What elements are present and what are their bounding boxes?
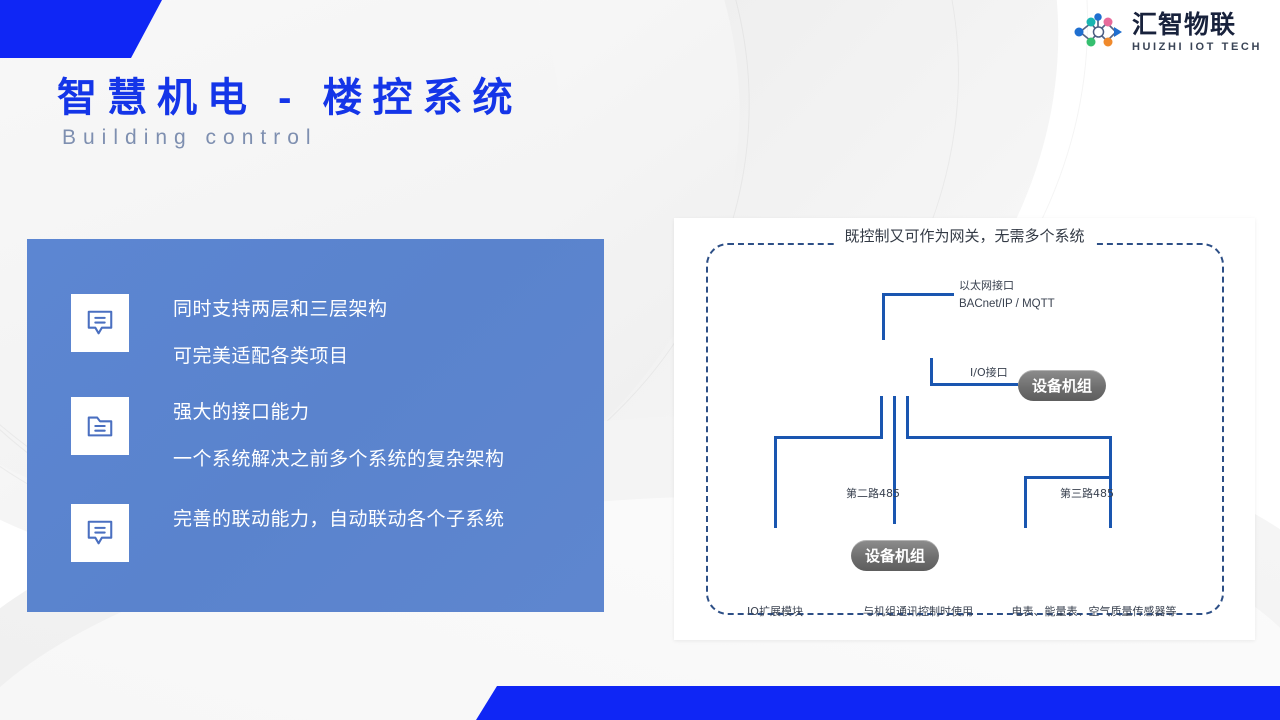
feature-line: 同时支持两层和三层架构 — [173, 294, 388, 321]
caption-io-module: IO扩展模块 — [710, 603, 840, 619]
wire-bus3-trunk — [906, 396, 909, 438]
folder-document-icon — [71, 397, 129, 455]
wire-bus3-branch-sensor — [1109, 476, 1112, 528]
brand-logo: 汇智物联 HUIZHI IOT TECH — [1072, 10, 1262, 54]
feature-row: 完善的联动能力，自动联动各个子系统 — [71, 504, 505, 562]
label-ethernet-port: 以太网接口 — [959, 279, 1014, 294]
feature-line: 完善的联动能力，自动联动各个子系统 — [173, 504, 505, 531]
diagram-title: 既控制又可作为网关，无需多个系统 — [834, 225, 1094, 246]
page-title: 智慧机电 - 楼控系统 — [57, 65, 523, 123]
comment-bubble-icon — [71, 294, 129, 352]
feature-line: 强大的接口能力 — [173, 397, 505, 424]
page-subtitle: Building control — [62, 126, 318, 150]
feature-line: 一个系统解决之前多个系统的复杂架构 — [173, 444, 505, 471]
feature-text-block: 完善的联动能力，自动联动各个子系统 — [173, 504, 505, 531]
label-io-port: I/O接口 — [970, 366, 1008, 381]
wire-bus1-horizontal — [774, 436, 883, 439]
wire-bus3-drop — [1109, 436, 1112, 478]
wire-bus1-trunk — [880, 396, 883, 438]
wire-ethernet-vertical — [882, 293, 885, 340]
wire-io-vertical — [930, 358, 933, 386]
label-ethernet-protocols: BACnet/IP / MQTT — [959, 297, 1055, 313]
feature-row: 强大的接口能力 一个系统解决之前多个系统的复杂架构 — [71, 397, 505, 471]
pill-io-equipment-unit: 设备机组 — [1018, 370, 1106, 401]
brand-name-en: HUIZHI IOT TECH — [1132, 42, 1262, 53]
feature-panel: 同时支持两层和三层架构 可完美适配各类项目 强大的接口能力 一个系统解决之前多个… — [27, 239, 604, 612]
caption-equipment-unit: 与机组通讯控制时使用 — [842, 603, 994, 619]
feature-line: 可完美适配各类项目 — [173, 341, 388, 368]
feature-text-block: 强大的接口能力 一个系统解决之前多个系统的复杂架构 — [173, 397, 505, 471]
wire-bus2-trunk — [893, 396, 896, 524]
feature-text-block: 同时支持两层和三层架构 可完美适配各类项目 — [173, 294, 388, 368]
label-bus-second-485: 第二路485 — [846, 487, 900, 502]
wire-bus3-horizontal — [906, 436, 1112, 439]
architecture-diagram-card: 既控制又可作为网关，无需多个系统 以太网接口 BACnet/IP / MQTT … — [674, 218, 1255, 640]
brand-text: 汇智物联 HUIZHI IOT TECH — [1132, 12, 1262, 53]
molecule-network-icon — [1072, 10, 1124, 54]
wire-ethernet-horizontal — [882, 293, 954, 296]
wire-bus1-drop — [774, 436, 777, 528]
brand-name-cn: 汇智物联 — [1132, 12, 1262, 37]
feature-row: 同时支持两层和三层架构 可完美适配各类项目 — [71, 294, 388, 368]
label-bus-third-485: 第三路485 — [1060, 487, 1114, 502]
wire-bus3-split — [1024, 476, 1112, 479]
comment-bubble-icon — [71, 504, 129, 562]
caption-meters-sensors: 电表、能量表、空气质量传感器等 — [994, 603, 1194, 619]
wire-io-horizontal — [930, 383, 1018, 386]
pill-485-equipment-unit: 设备机组 — [851, 540, 939, 571]
wire-bus3-branch-meter — [1024, 476, 1027, 528]
